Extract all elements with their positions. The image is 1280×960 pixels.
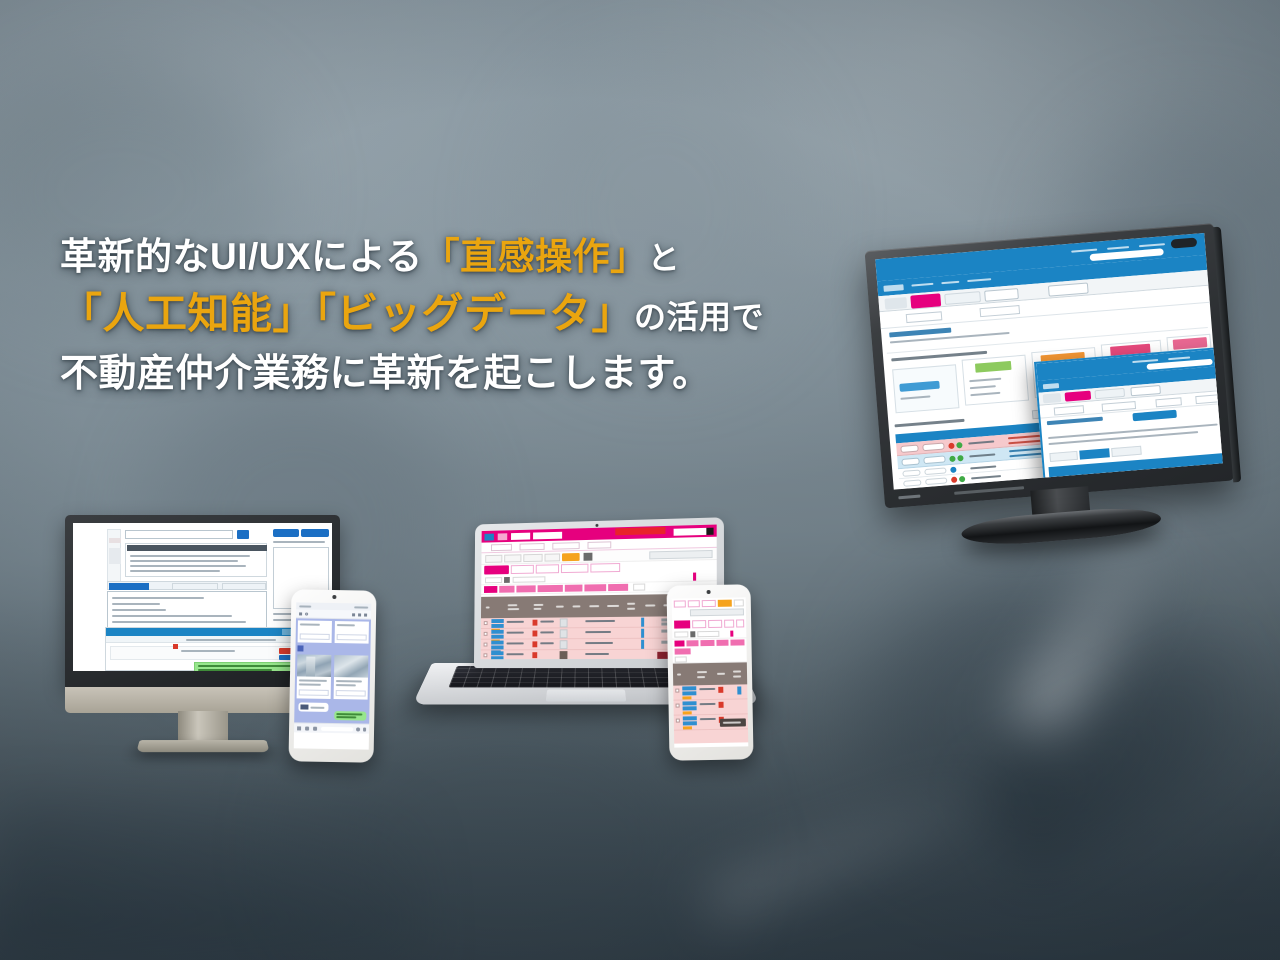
header-nav-text: [1139, 243, 1165, 247]
compose-text-line: [112, 609, 166, 611]
filter-select[interactable]: [491, 544, 512, 551]
compose-label-bar: [107, 581, 267, 590]
col-header: [589, 605, 599, 607]
portal-logo: [975, 361, 1012, 373]
card-title: [337, 624, 355, 626]
building-photo-tower: [306, 657, 315, 677]
row-badge-blue: [683, 701, 697, 705]
row-badge: [922, 442, 944, 451]
tab-label: [941, 281, 959, 284]
row-thumb: [560, 618, 568, 627]
chip[interactable]: [484, 586, 497, 593]
compose-tag[interactable]: [222, 583, 266, 590]
row-thumb-dark: [560, 651, 568, 659]
gallery-icon[interactable]: [313, 727, 317, 731]
composer-search-input[interactable]: [125, 530, 233, 539]
menu-icon[interactable]: [352, 613, 355, 616]
composer-search-button[interactable]: [237, 530, 249, 539]
col-header: [508, 604, 518, 606]
filter-select[interactable]: [552, 542, 579, 550]
tab-active[interactable]: [674, 620, 690, 628]
tab[interactable]: [674, 600, 686, 607]
row-text: [507, 632, 524, 634]
phone-body: [666, 584, 753, 760]
card-text: [336, 680, 362, 682]
row-badge-blue: [491, 619, 503, 623]
device-phone-chat: [289, 589, 377, 762]
row-text: [540, 642, 554, 644]
status-dot-green: [949, 456, 955, 462]
row-badge-blue: [683, 706, 697, 710]
row-badge-red: [533, 620, 538, 626]
compose-text-line: [112, 621, 246, 623]
message-text: [198, 665, 298, 667]
chip[interactable]: [608, 584, 628, 591]
col-header: [677, 674, 681, 676]
mobile-tooltip: [720, 718, 746, 726]
chip[interactable]: [716, 640, 728, 646]
overlay-description: [1049, 431, 1199, 445]
col-header: [717, 673, 725, 675]
col-header: [697, 676, 705, 678]
overlay-chip[interactable]: [1132, 410, 1176, 422]
row-badge: [923, 455, 945, 464]
subtab-inactive[interactable]: [884, 297, 907, 310]
row-text: [540, 621, 554, 623]
filter-select[interactable]: [906, 311, 943, 323]
row-cell-text: [968, 440, 994, 444]
portal-card-button[interactable]: [899, 381, 940, 392]
row-text: [506, 653, 523, 655]
row-text: [506, 642, 523, 644]
col-header: [573, 605, 581, 607]
row-badge-blue: [491, 635, 503, 639]
message-text: [198, 669, 272, 671]
action-button[interactable]: [545, 553, 561, 561]
headline-line-3: 不動産仲介業務に革新を起こします。: [60, 346, 880, 402]
row-badge-orange: [682, 696, 691, 699]
portal-card-text: [969, 378, 1001, 383]
row-cell-text: [969, 453, 995, 457]
listing-alert-banner: [615, 527, 665, 535]
monitor-brand-text: [898, 495, 920, 500]
app-logo: [883, 284, 903, 292]
row-badge-red: [532, 641, 537, 647]
tab[interactable]: [590, 563, 620, 573]
headline-seg-tail: と: [648, 240, 681, 276]
bubble-text: [310, 707, 324, 709]
chip[interactable]: [700, 640, 714, 646]
template-panel: [125, 543, 267, 577]
imac-stand-neck: [178, 711, 228, 743]
subtab-dropdown[interactable]: [1048, 282, 1089, 296]
phone-screen: [672, 597, 749, 747]
chip[interactable]: [538, 585, 563, 592]
status-dot-green: [956, 442, 962, 448]
chip-count: [633, 584, 645, 591]
tab[interactable]: [688, 600, 700, 607]
row-badge-red: [719, 702, 724, 708]
template-header: [127, 545, 267, 551]
chip[interactable]: [499, 586, 514, 593]
portal-card[interactable]: [892, 364, 959, 413]
col-header: [733, 670, 741, 672]
row-badge-blue: [491, 645, 503, 649]
portal-card-text: [970, 392, 1000, 396]
headline-seg-tail: の活用で: [634, 299, 764, 335]
overlay-filter-select[interactable]: [1195, 394, 1222, 404]
col-header: [534, 608, 542, 610]
tab-label: [967, 278, 991, 282]
chip[interactable]: [584, 584, 606, 591]
subtab-inactive[interactable]: [944, 291, 981, 305]
card-text: [336, 684, 356, 686]
chat-input-bar[interactable]: [294, 722, 369, 733]
row-badge-orange: [683, 711, 692, 714]
tab[interactable]: [511, 565, 534, 574]
result-count-label: [895, 419, 965, 428]
message-input[interactable]: [321, 727, 353, 732]
overlay-filter-select[interactable]: [1054, 405, 1085, 415]
col-header: [534, 604, 544, 606]
row-badge-blue: [491, 656, 503, 659]
tab[interactable]: [561, 564, 588, 573]
compose-text-line: [112, 597, 204, 599]
subfilter-select[interactable]: [485, 577, 502, 583]
row-badge-blue: [737, 686, 741, 694]
imac-stand-foot: [136, 740, 269, 752]
compose-tag[interactable]: [172, 583, 218, 590]
preview-tab[interactable]: [301, 529, 329, 537]
overlay-subtab-active[interactable]: [1065, 391, 1092, 402]
header-nav-text: [1107, 246, 1129, 250]
listing-search-input[interactable]: [533, 532, 562, 540]
pagination-marker: [693, 573, 696, 581]
status-dot-green: [957, 455, 963, 461]
subfilter-select[interactable]: [674, 631, 688, 637]
page-title: [889, 328, 951, 338]
row-checkbox[interactable]: [484, 643, 488, 647]
subtab-active[interactable]: [910, 293, 941, 308]
overlay-user-button[interactable]: [1218, 350, 1223, 360]
composer-left-nav: [107, 529, 121, 583]
chip[interactable]: [565, 585, 583, 592]
status-dot-red: [948, 443, 954, 449]
row-thumb: [560, 629, 568, 638]
filter-select[interactable]: [520, 543, 545, 550]
tab-active[interactable]: [718, 600, 732, 607]
tab-active[interactable]: [484, 565, 509, 574]
header-user-button[interactable]: [1171, 238, 1198, 249]
status-dot-blue: [950, 467, 956, 473]
monitor-screen: [875, 233, 1222, 490]
headline-seg-accent: 「人工知能」「ビッグデータ」: [60, 290, 634, 337]
status-icons: [354, 606, 368, 608]
status-time: [299, 605, 311, 607]
device-phone-listing: [666, 584, 753, 760]
row-badge-blue: [491, 641, 503, 645]
template-text: [130, 560, 238, 562]
monitor-osd-buttons: [954, 486, 1024, 495]
mobile-table-header: [673, 662, 747, 685]
row-badge: [901, 458, 920, 466]
building-photo: [334, 655, 368, 678]
row-text: [585, 653, 609, 655]
card-button[interactable]: [336, 690, 366, 697]
card-title: [300, 623, 320, 625]
row-badge-blue: [683, 721, 697, 725]
device-desktop-monitor: [865, 222, 1256, 551]
mobile-tab-row: [672, 597, 746, 608]
subtab-dropdown[interactable]: [984, 288, 1019, 302]
row-badge-blue: [641, 640, 644, 649]
template-text: [130, 555, 250, 557]
message-badge-red: [173, 644, 178, 649]
property-card[interactable]: [298, 620, 332, 643]
row-text: [700, 718, 716, 720]
back-icon[interactable]: [299, 612, 302, 615]
overlay-subtab-dropdown[interactable]: [1130, 385, 1161, 396]
overlay-title-text: [1047, 417, 1103, 425]
row-checkbox[interactable]: [675, 689, 679, 693]
subfilter-icon: [504, 577, 510, 583]
row-thumb: [560, 640, 568, 649]
listing-header-button[interactable]: [706, 528, 713, 535]
col-header: [486, 607, 490, 609]
row-badge-blue: [683, 716, 697, 720]
row-text: [585, 631, 611, 633]
row-checkbox[interactable]: [484, 632, 488, 636]
property-card[interactable]: [335, 621, 369, 644]
property-card-with-photo[interactable]: [297, 654, 332, 699]
action-button-primary[interactable]: [562, 553, 580, 561]
phone-camera-icon: [707, 590, 711, 594]
composer-toolbar: [107, 529, 267, 541]
action-button[interactable]: [485, 555, 502, 563]
compose-text-line: [112, 615, 232, 617]
compose-tag: [109, 583, 149, 590]
tab[interactable]: [734, 599, 744, 606]
template-text: [130, 565, 246, 567]
mobile-table-body: [673, 684, 748, 743]
row-text: [700, 703, 716, 705]
overlay-tab[interactable]: [1049, 451, 1078, 462]
overlay-filter-select[interactable]: [1102, 401, 1137, 412]
tooltip-text: [723, 721, 741, 723]
row-checkbox[interactable]: [484, 653, 488, 657]
row-text: [540, 631, 554, 633]
table-row[interactable]: [673, 699, 747, 715]
phone-camera-icon: [332, 595, 336, 599]
count-badge: [675, 656, 687, 662]
saved-search-bar[interactable]: [649, 550, 712, 559]
row-badge: [924, 467, 946, 475]
emoji-icon[interactable]: [356, 727, 360, 731]
portal-card-text: [970, 385, 996, 389]
row-checkbox[interactable]: [676, 704, 680, 708]
listing-nav-chip[interactable]: [511, 533, 530, 540]
listing-header-right[interactable]: [674, 528, 709, 536]
card-text: [299, 683, 321, 685]
headline-seg-accent: 「直感操作」: [423, 236, 648, 277]
tab[interactable]: [736, 619, 744, 627]
subfilter-icon: [690, 631, 695, 637]
subfilter-input[interactable]: [513, 576, 546, 582]
row-badge-blue: [491, 624, 503, 628]
col-header: [645, 604, 655, 606]
card-button[interactable]: [299, 689, 329, 696]
chip[interactable]: [730, 639, 744, 645]
listing-logo: [484, 534, 494, 541]
row-text: [507, 621, 524, 623]
chip[interactable]: [675, 648, 691, 654]
col-header: [508, 608, 520, 610]
more-icon[interactable]: [364, 614, 367, 617]
headline-seg-plain: 革新的なUI/UXによる: [60, 236, 423, 277]
tab[interactable]: [702, 600, 716, 607]
row-checkbox[interactable]: [676, 719, 680, 723]
headline-line-2: 「人工知能」「ビッグデータ」の活用で: [60, 285, 880, 346]
card-text: [299, 679, 327, 681]
row-badge: [902, 469, 920, 476]
row-cell-text: [971, 475, 1001, 479]
filter-select[interactable]: [588, 541, 612, 549]
chat-avatar: [297, 645, 303, 651]
row-badge-orange: [683, 726, 692, 729]
row-text: [699, 688, 715, 690]
preview-note: [273, 541, 325, 543]
row-checkbox[interactable]: [484, 621, 488, 625]
overlay-subtab-inactive[interactable]: [1094, 388, 1125, 399]
row-text: [585, 620, 615, 622]
mobile-saved-search[interactable]: [690, 608, 744, 616]
action-button[interactable]: [523, 554, 542, 562]
laptop-camera-icon: [595, 523, 598, 526]
monitor-bezel: [865, 223, 1235, 508]
search-icon[interactable]: [305, 613, 308, 616]
action-button[interactable]: [504, 554, 521, 562]
row-text: [585, 642, 613, 644]
table-row[interactable]: [673, 684, 747, 700]
col-header: [556, 606, 564, 608]
thread-subheader-text: [186, 639, 276, 641]
laptop-trackpad[interactable]: [546, 690, 626, 702]
col-header: [733, 675, 741, 677]
property-card-with-photo[interactable]: [334, 655, 369, 700]
tab[interactable]: [724, 620, 734, 628]
status-dot-green: [959, 476, 965, 482]
headline-seg-plain: 不動産仲介業務に革新を起こします。: [60, 353, 711, 395]
template-text: [130, 570, 220, 572]
portal-card-text: [900, 395, 930, 399]
camera-icon[interactable]: [305, 727, 309, 731]
row-badge-blue: [682, 691, 696, 695]
chat-bubble-in: [298, 702, 328, 712]
row-badge-blue: [641, 629, 644, 638]
settings-icon[interactable]: [358, 613, 361, 616]
col-header: [607, 605, 619, 607]
preview-tab[interactable]: [273, 529, 299, 537]
phone-screen: [294, 602, 372, 749]
row-badge-blue: [641, 618, 644, 627]
col-header: [627, 608, 635, 610]
row-badge-red: [532, 652, 537, 658]
card-button[interactable]: [300, 633, 330, 640]
row-badge-red: [532, 631, 537, 637]
tab[interactable]: [536, 564, 559, 573]
row-cell-text: [970, 465, 996, 469]
phone-body: [289, 589, 377, 762]
hero-headline: 革新的なUI/UXによる「直感操作」と 「人工知能」「ビッグデータ」の活用で 不…: [60, 230, 880, 402]
compose-text-line: [112, 603, 160, 605]
overlay-tab-active[interactable]: [1079, 448, 1110, 459]
chat-thread: [294, 618, 371, 723]
row-badge-red: [718, 687, 723, 693]
tab[interactable]: [708, 620, 722, 628]
overlay-filter-select[interactable]: [1155, 397, 1182, 407]
row-badge-blue: [491, 630, 503, 634]
listing-nav-chip[interactable]: [498, 533, 508, 540]
plus-icon[interactable]: [297, 726, 301, 730]
chip[interactable]: [686, 640, 698, 646]
pagination-marker: [730, 631, 733, 637]
status-dot-red: [951, 477, 957, 483]
row-badge: [925, 477, 947, 485]
subfilter-input[interactable]: [697, 631, 719, 637]
col-header: [627, 603, 635, 605]
bubble-thumb: [300, 704, 308, 709]
overlay-subtab-inactive[interactable]: [1043, 393, 1062, 403]
row-badge: [903, 479, 921, 486]
mic-icon[interactable]: [363, 728, 366, 732]
filter-select[interactable]: [980, 305, 1021, 317]
bubble-text: [336, 716, 356, 718]
chat-bubble-out: [334, 711, 366, 721]
col-header: [697, 671, 707, 673]
nav-thumb: [109, 548, 121, 564]
tab-label: [911, 283, 933, 287]
row-badge-blue: [491, 651, 503, 655]
header-nav-text: [1071, 249, 1097, 253]
hero-stage: 革新的なUI/UXによる「直感操作」と 「人工知能」「ビッグデータ」の活用で 不…: [0, 0, 1280, 960]
overlay-logo: [1043, 383, 1059, 389]
portal-card[interactable]: [962, 355, 1029, 406]
message-text: [181, 650, 235, 652]
overlay-header-text: [1168, 356, 1190, 360]
nav-badge: [109, 538, 121, 543]
chip[interactable]: [516, 585, 535, 592]
tab[interactable]: [692, 620, 706, 628]
row-badge: [900, 445, 919, 453]
chip[interactable]: [674, 640, 684, 646]
action-icon-button[interactable]: [584, 553, 593, 561]
mobile-chip-row: [672, 638, 746, 655]
card-button[interactable]: [337, 634, 367, 641]
overlay-tab[interactable]: [1111, 446, 1142, 457]
headline-line-1: 革新的なUI/UXによる「直感操作」と: [60, 230, 880, 285]
row-badge-blue: [682, 686, 696, 690]
